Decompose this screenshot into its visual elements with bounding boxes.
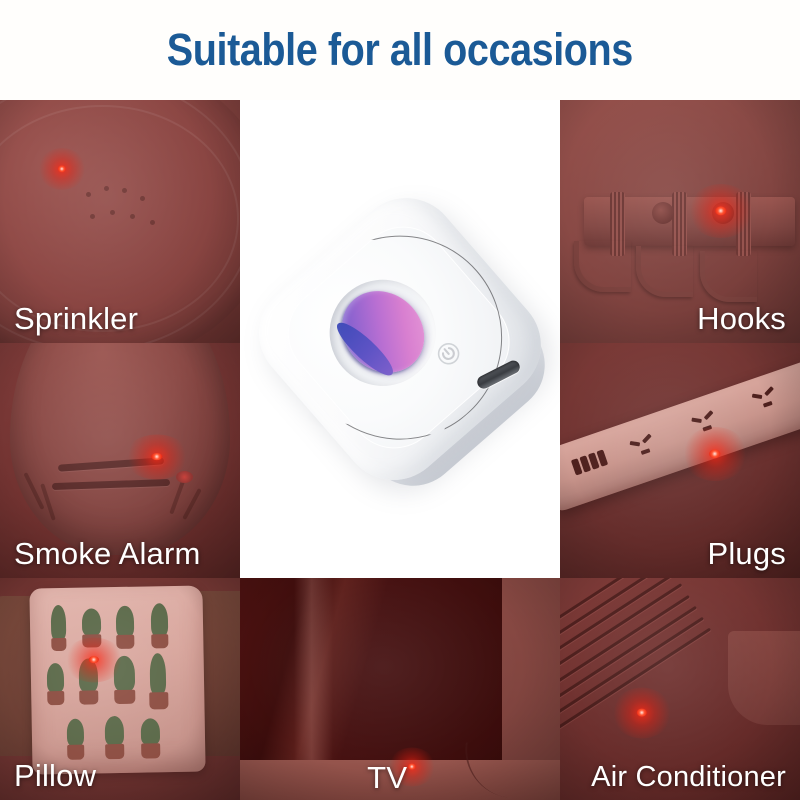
occasions-grid: Sprinkler Smoke Alarm [0,100,800,800]
occasion-cell-pillow[interactable]: Pillow [0,578,240,800]
occasion-cell-hooks[interactable]: Hooks [560,100,800,343]
occasion-cell-smoke-alarm[interactable]: Smoke Alarm [0,343,240,578]
occasion-cell-tv[interactable]: TV [240,578,560,800]
occasion-label-pillow: Pillow [14,758,96,794]
product-showcase-panel [240,100,560,578]
occasion-label-smoke-alarm: Smoke Alarm [14,536,201,572]
occasion-cell-sprinkler[interactable]: Sprinkler [0,100,240,343]
page-title: Suitable for all occasions [167,24,633,76]
occasion-label-air-conditioner: Air Conditioner [591,761,786,794]
occasion-label-sprinkler: Sprinkler [14,301,138,337]
occasion-cell-plugs[interactable]: Plugs [560,343,800,578]
occasion-cell-air-conditioner[interactable]: Air Conditioner [560,578,800,800]
promo-page: Suitable for all occasions Sprink [0,0,800,800]
occasion-label-plugs: Plugs [707,536,786,572]
occasion-label-tv: TV [367,760,407,796]
occasion-label-hooks: Hooks [697,301,786,337]
header-banner: Suitable for all occasions [0,0,800,100]
